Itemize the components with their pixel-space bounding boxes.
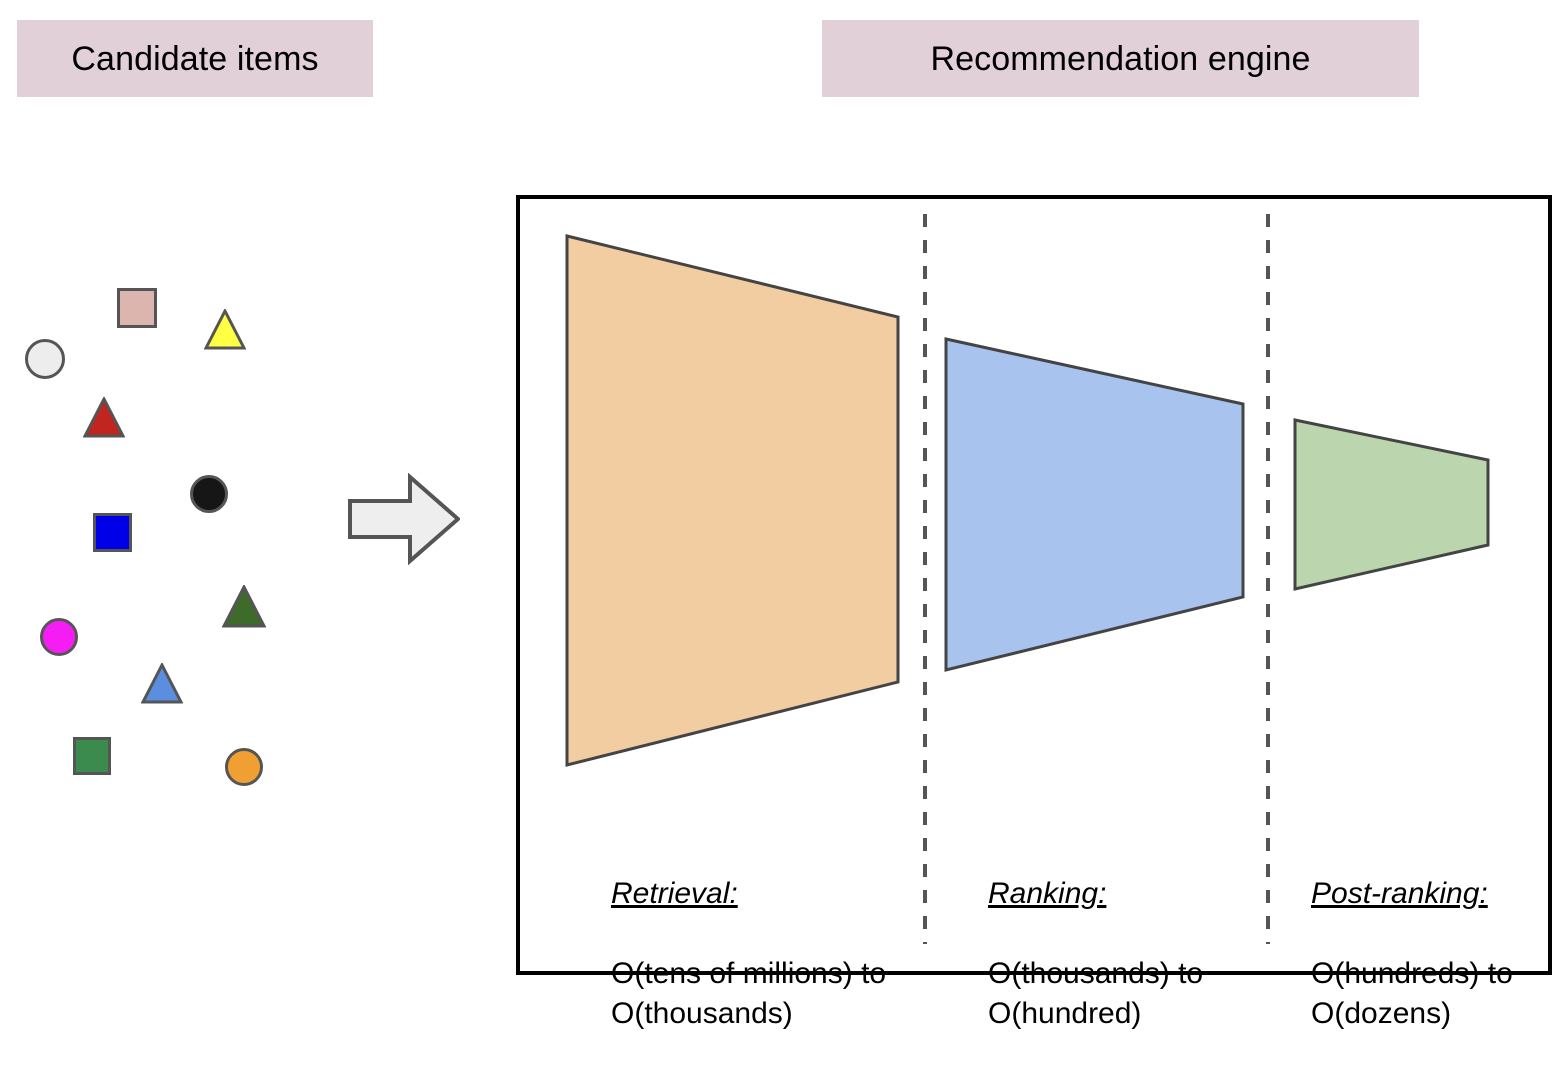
stage-caption-ranking: Ranking: O(thousands) to O(hundred) bbox=[988, 834, 1258, 1074]
stage-caption-post-ranking: Post-ranking: O(hundreds) to O(dozens) bbox=[1311, 834, 1551, 1074]
candidate-item-circle-black bbox=[190, 475, 228, 513]
candidate-item-circle-orange bbox=[225, 748, 263, 786]
stage-description-post-ranking: O(hundreds) to O(dozens) bbox=[1311, 954, 1551, 1034]
candidate-item-triangle-yellow bbox=[204, 309, 246, 351]
stage-caption-retrieval: Retrieval: O(tens of millions) to O(thou… bbox=[611, 834, 911, 1074]
stage-title-post-ranking: Post-ranking: bbox=[1311, 874, 1551, 914]
diagram-canvas: Candidate items Recommendation engine Re… bbox=[0, 0, 1568, 1000]
candidate-item-triangle-red bbox=[83, 397, 125, 439]
candidate-item-circle-white bbox=[25, 339, 65, 379]
candidate-item-square-pink bbox=[117, 288, 157, 328]
stage-title-retrieval: Retrieval: bbox=[611, 874, 911, 914]
stage-description-ranking: O(thousands) to O(hundred) bbox=[988, 954, 1258, 1034]
flow-arrow bbox=[348, 473, 460, 565]
candidate-items-cloud bbox=[0, 0, 340, 1000]
candidate-item-triangle-blue bbox=[141, 663, 183, 705]
candidate-item-square-green bbox=[73, 737, 111, 775]
recommendation-engine-header-label: Recommendation engine bbox=[930, 42, 1310, 76]
recommendation-engine-header: Recommendation engine bbox=[822, 20, 1419, 97]
candidate-item-square-blue bbox=[93, 513, 132, 552]
stage-title-ranking: Ranking: bbox=[988, 874, 1258, 914]
candidate-item-triangle-green bbox=[222, 585, 266, 629]
stage-description-retrieval: O(tens of millions) to O(thousands) bbox=[611, 954, 911, 1034]
candidate-item-circle-magenta bbox=[40, 618, 78, 656]
